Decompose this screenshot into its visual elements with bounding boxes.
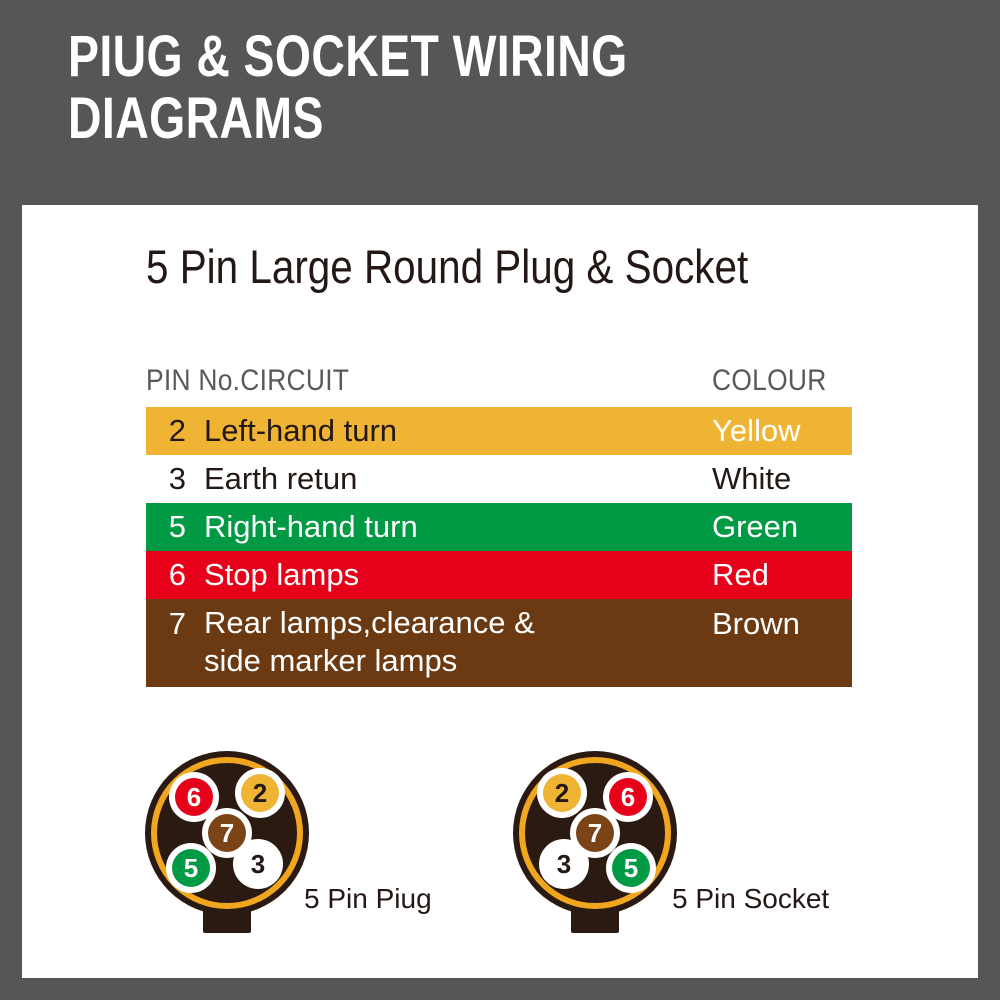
socket-diagram: 26735 5 Pin Socket — [502, 745, 802, 965]
table-row-inner: 3Earth retunWhite — [146, 455, 852, 503]
plug-pin-5: 5 — [166, 843, 216, 893]
table-row: 5Right-hand turnGreen — [146, 503, 852, 551]
pin-number-label: 6 — [187, 782, 201, 812]
cell-colour-name: Brown — [712, 607, 800, 641]
cell-pin-number: 5 — [152, 510, 186, 544]
cell-pin-number: 2 — [152, 414, 186, 448]
pin-number-label: 5 — [624, 853, 638, 883]
pin-number-label: 2 — [555, 778, 569, 808]
content-panel: 5 Pin Large Round Plug & Socket PIN No.C… — [22, 205, 978, 978]
plug-graphic: 62753 — [134, 745, 434, 965]
plug-diagram: 62753 5 Pin Piug — [134, 745, 434, 965]
pin-number-label: 3 — [251, 849, 265, 879]
table-row-inner: 5Right-hand turnGreen — [146, 503, 852, 551]
socket-caption: 5 Pin Socket — [672, 883, 829, 915]
cell-colour-name: Green — [712, 510, 798, 544]
cell-colour-name: Yellow — [712, 414, 800, 448]
cell-circuit-description: Right-hand turn — [204, 508, 704, 546]
table-body: 2Left-hand turnYellow3Earth retunWhite5R… — [146, 407, 852, 687]
table-row-inner: 2Left-hand turnYellow — [146, 407, 852, 455]
socket-graphic: 26735 — [502, 745, 802, 965]
socket-pin-3: 3 — [539, 839, 589, 889]
pin-number-label: 7 — [220, 818, 234, 848]
table-header-row: PIN No.CIRCUIT COLOUR — [146, 365, 852, 407]
pin-number-label: 2 — [253, 778, 267, 808]
page-header: PIUG & SOCKET WIRING DIAGRAMS — [0, 0, 1000, 205]
table-row: 6Stop lampsRed — [146, 551, 852, 599]
cell-pin-number: 6 — [152, 558, 186, 592]
pin-number-label: 3 — [557, 849, 571, 879]
plug-pin-2: 2 — [235, 768, 285, 818]
table-row: 7Rear lamps,clearance & side marker lamp… — [146, 599, 852, 687]
cell-pin-number: 7 — [152, 607, 186, 641]
cell-circuit-description: Rear lamps,clearance & side marker lamps — [204, 604, 704, 680]
pin-number-label: 6 — [621, 782, 635, 812]
cell-pin-number: 3 — [152, 462, 186, 496]
pin-number-label: 7 — [588, 818, 602, 848]
table-row: 3Earth retunWhite — [146, 455, 852, 503]
table-row: 2Left-hand turnYellow — [146, 407, 852, 455]
plug-pin-3: 3 — [233, 839, 283, 889]
cell-colour-name: Red — [712, 558, 769, 592]
socket-pin-5: 5 — [606, 843, 656, 893]
connector-diagrams: 62753 5 Pin Piug 26735 5 Pin Socket — [22, 745, 978, 965]
socket-pin-2: 2 — [537, 768, 587, 818]
column-header-circuit: PIN No.CIRCUIT — [146, 365, 349, 397]
cell-colour-name: White — [712, 462, 791, 496]
table-row-inner: 6Stop lampsRed — [146, 551, 852, 599]
cell-circuit-description: Stop lamps — [204, 556, 704, 594]
diagram-subtitle: 5 Pin Large Round Plug & Socket — [146, 241, 748, 293]
pin-number-label: 5 — [184, 853, 198, 883]
column-header-colour: COLOUR — [712, 365, 827, 397]
page-title: PIUG & SOCKET WIRING DIAGRAMS — [68, 26, 756, 150]
cell-circuit-description: Left-hand turn — [204, 412, 704, 450]
plug-caption: 5 Pin Piug — [304, 883, 432, 915]
cell-circuit-description: Earth retun — [204, 460, 704, 498]
table-row-inner: 7Rear lamps,clearance & side marker lamp… — [146, 599, 852, 687]
wiring-diagram-page: PIUG & SOCKET WIRING DIAGRAMS 5 Pin Larg… — [0, 0, 1000, 1000]
pin-circuit-table: PIN No.CIRCUIT COLOUR 2Left-hand turnYel… — [146, 365, 852, 687]
